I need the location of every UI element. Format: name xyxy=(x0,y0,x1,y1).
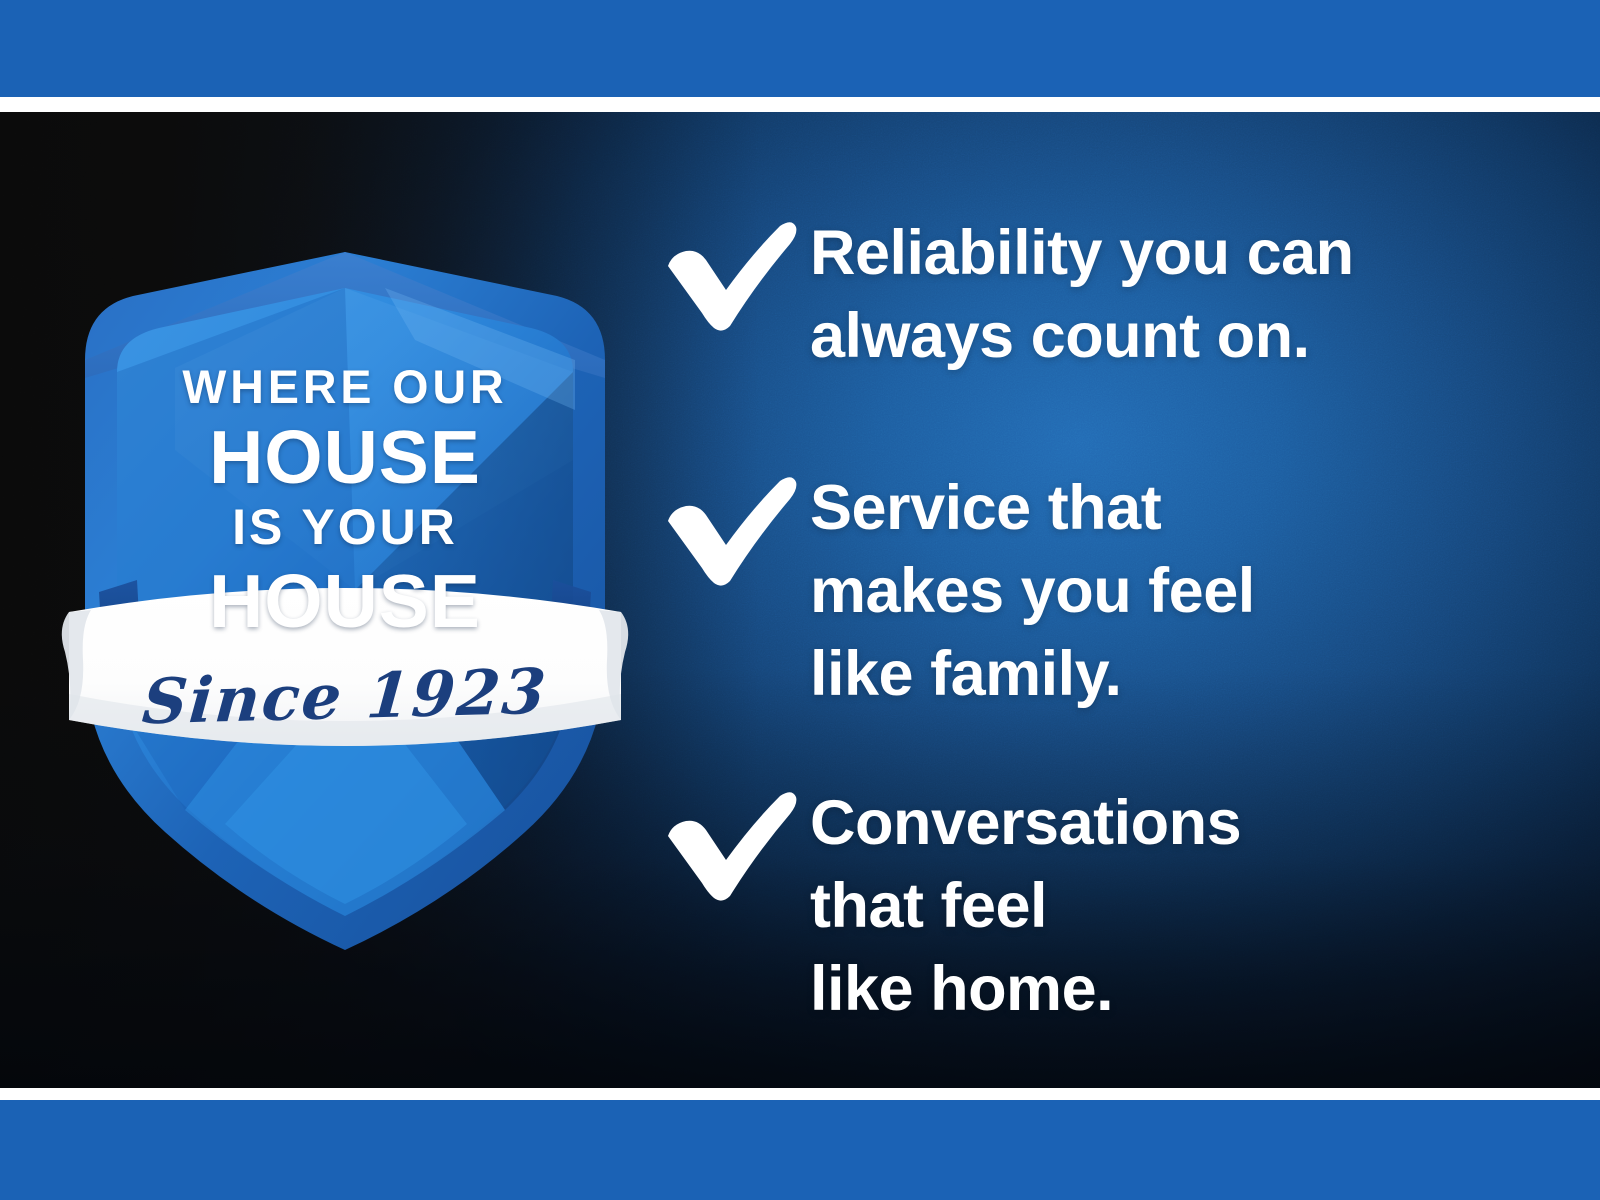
top-brand-bar xyxy=(0,0,1600,97)
bottom-brand-bar xyxy=(0,1100,1600,1200)
benefit-item-reliability: Reliability you can always count on. xyxy=(660,212,1560,378)
benefit-text-reliability: Reliability you can always count on. xyxy=(810,212,1560,378)
logo-shield: WHERE OUR HOUSE IS YOUR HOUSE Since 1923 xyxy=(55,160,635,950)
benefit-line: Reliability you can xyxy=(810,212,1560,295)
benefit-line: Conversations xyxy=(810,782,1560,865)
benefit-line: Service that xyxy=(810,467,1560,550)
benefit-line: like home. xyxy=(810,948,1560,1031)
checkmark-icon xyxy=(660,212,810,333)
checkmark-icon xyxy=(660,467,810,588)
benefit-line: always count on. xyxy=(810,295,1560,378)
benefit-line: like family. xyxy=(810,633,1560,716)
benefit-item-conversations: Conversations that feel like home. xyxy=(660,782,1560,1031)
benefit-text-conversations: Conversations that feel like home. xyxy=(810,782,1560,1031)
benefit-item-service: Service that makes you feel like family. xyxy=(660,467,1560,716)
benefits-list: Reliability you can always count on. Ser… xyxy=(660,112,1560,1088)
checkmark-icon xyxy=(660,782,810,903)
benefit-text-service: Service that makes you feel like family. xyxy=(810,467,1560,716)
benefit-line: makes you feel xyxy=(810,550,1560,633)
promo-banner: WHERE OUR HOUSE IS YOUR HOUSE Since 1923… xyxy=(0,0,1600,1200)
benefit-line: that feel xyxy=(810,865,1560,948)
